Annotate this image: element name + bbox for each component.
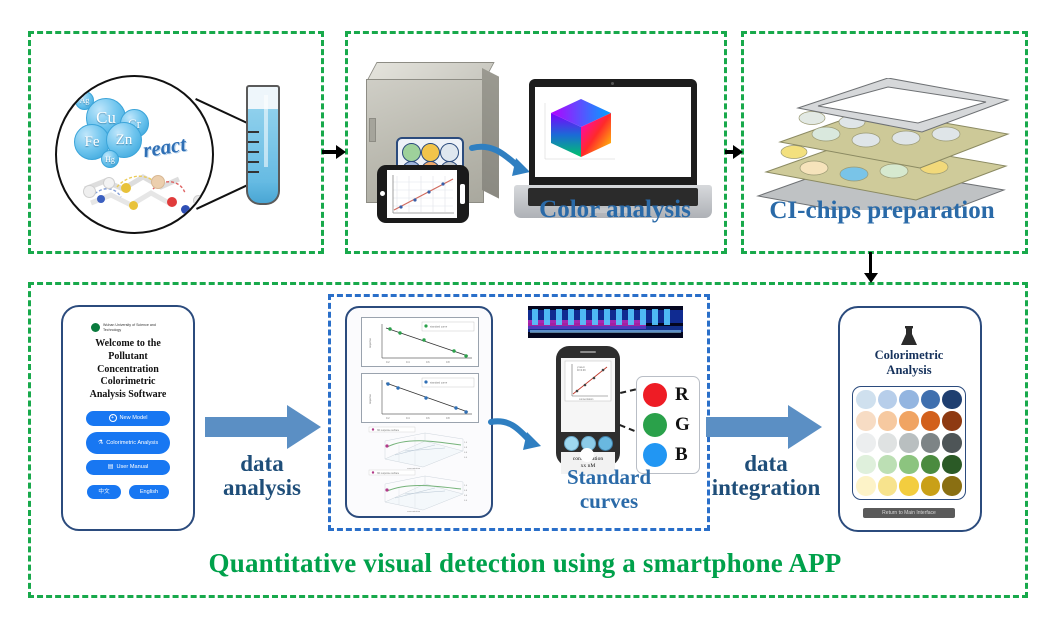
ion-bubble-hg: Hg xyxy=(101,150,119,168)
plus-circle-icon: + xyxy=(109,414,117,422)
app-title-line: Pollutant xyxy=(90,351,167,364)
app-title-line: Analysis Software xyxy=(90,389,167,402)
atom-node xyxy=(121,183,131,193)
calibration-plot-green: standard curve 0.20.4 0.60.8 response xyxy=(361,317,479,367)
swatch[interactable] xyxy=(899,476,919,496)
colorimetric-screen: Colorimetric Analysis xyxy=(850,318,968,518)
rgb-letter-g: G xyxy=(675,414,690,436)
university-logo-icon xyxy=(91,323,100,332)
atom-node xyxy=(151,175,165,189)
user-manual-label: User Manual xyxy=(116,464,148,470)
colorimetric-title: Colorimetric Analysis xyxy=(875,348,944,379)
svg-text:response: response xyxy=(369,393,372,404)
label-data-analysis-line1: data xyxy=(198,452,326,476)
university-brand: Wuhan University of Science and Technolo… xyxy=(91,323,165,332)
swatch[interactable] xyxy=(878,390,898,410)
swatch[interactable] xyxy=(899,390,919,410)
swatch[interactable] xyxy=(942,455,962,475)
magnifier-circle: Ag Cu Cr Fe Zn Hg react xyxy=(55,75,214,234)
colorimetric-analysis-button[interactable]: ⚗ Colorimetric Analysis xyxy=(86,432,170,454)
swatch[interactable] xyxy=(921,390,941,410)
well xyxy=(421,143,440,162)
app-title-line: Colorimetric xyxy=(90,376,167,389)
svg-text:standard curve: standard curve xyxy=(430,325,448,329)
label-ci-chips: CI-chips preparation xyxy=(742,197,1022,224)
colorimetric-title-line2: Analysis xyxy=(875,363,944,379)
flask-icon xyxy=(899,326,919,345)
svg-text:0.2: 0.2 xyxy=(386,360,390,364)
label-data-integration-line1: data xyxy=(696,452,836,476)
flask-icon: ⚗ xyxy=(98,440,103,447)
swatch[interactable] xyxy=(856,411,876,431)
swatch[interactable] xyxy=(878,411,898,431)
svg-text:0.6: 0.6 xyxy=(464,452,468,454)
arrow-chips-to-app xyxy=(869,252,872,274)
app-title-line: Welcome to the xyxy=(90,338,167,351)
svg-text:0.8: 0.8 xyxy=(464,490,468,492)
rgb-dot-green xyxy=(643,413,667,437)
app-title-line: Concentration xyxy=(90,364,167,377)
label-standard-curves: Standard curves xyxy=(538,466,680,513)
colorimetric-analysis-label: Colorimetric Analysis xyxy=(106,440,158,446)
label-standard-curves-line1: Standard xyxy=(538,466,680,490)
svg-text:3D response surface: 3D response surface xyxy=(377,429,400,432)
arrow-color-to-chips xyxy=(725,150,734,154)
chip-stack xyxy=(752,78,1010,210)
well xyxy=(402,143,421,162)
svg-text:standard curve: standard curve xyxy=(430,381,448,385)
fluorescence-strip xyxy=(528,306,683,338)
svg-text:response: response xyxy=(369,337,372,348)
figure-caption: Quantitative visual detection using a sm… xyxy=(28,548,1022,579)
app-title: Welcome to the Pollutant Concentration C… xyxy=(90,338,167,402)
language-chinese-button[interactable]: 中文 xyxy=(87,485,121,499)
svg-text:concentration: concentration xyxy=(579,398,594,401)
new-model-button[interactable]: + New Model xyxy=(86,411,170,426)
svg-text:1.0: 1.0 xyxy=(464,485,468,487)
svg-text:0.4: 0.4 xyxy=(406,360,410,364)
svg-text:0.6: 0.6 xyxy=(464,495,468,497)
laptop-camera-icon xyxy=(611,82,614,85)
swatch[interactable] xyxy=(899,433,919,453)
svg-text:0.6: 0.6 xyxy=(426,360,430,364)
svg-text:R²=0.99: R²=0.99 xyxy=(577,369,586,372)
surface-plot-1: 3D response surface 1.00.8 0.60.4 concen… xyxy=(363,425,477,469)
arrow-paper-to-curves xyxy=(487,416,543,456)
university-name: Wuhan University of Science and Technolo… xyxy=(103,323,165,332)
swatch[interactable] xyxy=(942,411,962,431)
svg-text:0.4: 0.4 xyxy=(406,416,410,420)
rgb-legend-box: R G B xyxy=(636,376,700,474)
phone-earpiece xyxy=(580,351,596,353)
svg-text:0.6: 0.6 xyxy=(426,416,430,420)
swatch[interactable] xyxy=(856,433,876,453)
swatch[interactable] xyxy=(942,476,962,496)
swatch[interactable] xyxy=(942,433,962,453)
sample-well-1[interactable] xyxy=(564,436,579,451)
rgb-letter-b: B xyxy=(675,444,688,466)
capture-phone-screen xyxy=(387,170,457,218)
rgb-dot-red xyxy=(643,383,667,407)
swatch[interactable] xyxy=(921,411,941,431)
light-box-latch xyxy=(369,118,376,142)
rgb-dot-blue xyxy=(643,443,667,467)
arrow-data-analysis xyxy=(205,405,321,449)
atom-node xyxy=(83,185,96,198)
user-manual-button[interactable]: ▤ User Manual xyxy=(86,460,170,475)
swatch[interactable] xyxy=(856,476,876,496)
label-standard-curves-line2: curves xyxy=(538,490,680,514)
arrow-box-to-laptop xyxy=(468,140,534,186)
svg-text:0.4: 0.4 xyxy=(464,500,468,502)
sample-well-3[interactable] xyxy=(598,436,613,451)
swatch[interactable] xyxy=(899,411,919,431)
phone-home-button[interactable] xyxy=(580,448,594,462)
atom-node xyxy=(103,177,115,189)
return-main-interface-button[interactable]: Return to Main Interface xyxy=(863,508,955,518)
swatch[interactable] xyxy=(878,476,898,496)
swatch[interactable] xyxy=(856,390,876,410)
swatch[interactable] xyxy=(856,455,876,475)
calibration-plot-blue: standard curve 0.20.4 0.60.8 response xyxy=(361,373,479,423)
language-english-button[interactable]: English xyxy=(129,485,169,499)
atom-node xyxy=(97,195,105,203)
color-swatch-grid xyxy=(852,386,966,500)
app-welcome-phone: Wuhan University of Science and Technolo… xyxy=(61,305,195,531)
colorimetric-title-line1: Colorimetric xyxy=(875,348,944,364)
laptop-screen xyxy=(535,87,691,177)
well xyxy=(440,143,459,162)
swatch[interactable] xyxy=(942,390,962,410)
language-switcher: 中文 English xyxy=(87,485,169,499)
new-model-label: New Model xyxy=(120,415,148,421)
svg-text:3D response surface: 3D response surface xyxy=(377,472,400,475)
capture-phone xyxy=(377,165,469,223)
svg-text:concentration: concentration xyxy=(407,510,421,512)
rgb-letter-r: R xyxy=(675,384,689,406)
swatch[interactable] xyxy=(899,455,919,475)
svg-text:0.8: 0.8 xyxy=(446,416,450,420)
label-color-analysis: Color analysis xyxy=(505,196,725,223)
svg-text:1.0: 1.0 xyxy=(464,442,468,444)
swatch[interactable] xyxy=(878,433,898,453)
svg-text:0.4: 0.4 xyxy=(464,457,468,459)
atom-node xyxy=(129,201,138,210)
app-welcome-screen: Wuhan University of Science and Technolo… xyxy=(69,313,187,523)
analysis-report-sheet: standard curve 0.20.4 0.60.8 response st… xyxy=(345,306,493,518)
label-data-analysis-line2: analysis xyxy=(198,476,326,500)
swatch[interactable] xyxy=(878,455,898,475)
arrow-reaction-to-color xyxy=(322,150,337,154)
atom-node xyxy=(167,197,177,207)
arrow-data-integration xyxy=(706,405,822,449)
phone-curve-screen: y=ax+b R²=0.99 concentration xyxy=(561,358,615,432)
test-tube xyxy=(246,85,276,203)
surface-plot-2: 3D response surface 1.00.8 0.60.4 concen… xyxy=(363,468,477,512)
swatch[interactable] xyxy=(921,455,941,475)
label-data-integration-line2: integration xyxy=(696,476,836,500)
svg-text:0.8: 0.8 xyxy=(446,360,450,364)
swatch[interactable] xyxy=(921,433,941,453)
svg-text:0.8: 0.8 xyxy=(464,447,468,449)
label-data-integration: data integration xyxy=(696,452,836,500)
label-data-analysis: data analysis xyxy=(198,452,326,500)
swatch[interactable] xyxy=(921,476,941,496)
atom-node xyxy=(181,205,190,214)
svg-text:0.2: 0.2 xyxy=(386,416,390,420)
book-icon: ▤ xyxy=(108,464,114,471)
colorimetric-result-phone: Colorimetric Analysis xyxy=(838,306,982,532)
